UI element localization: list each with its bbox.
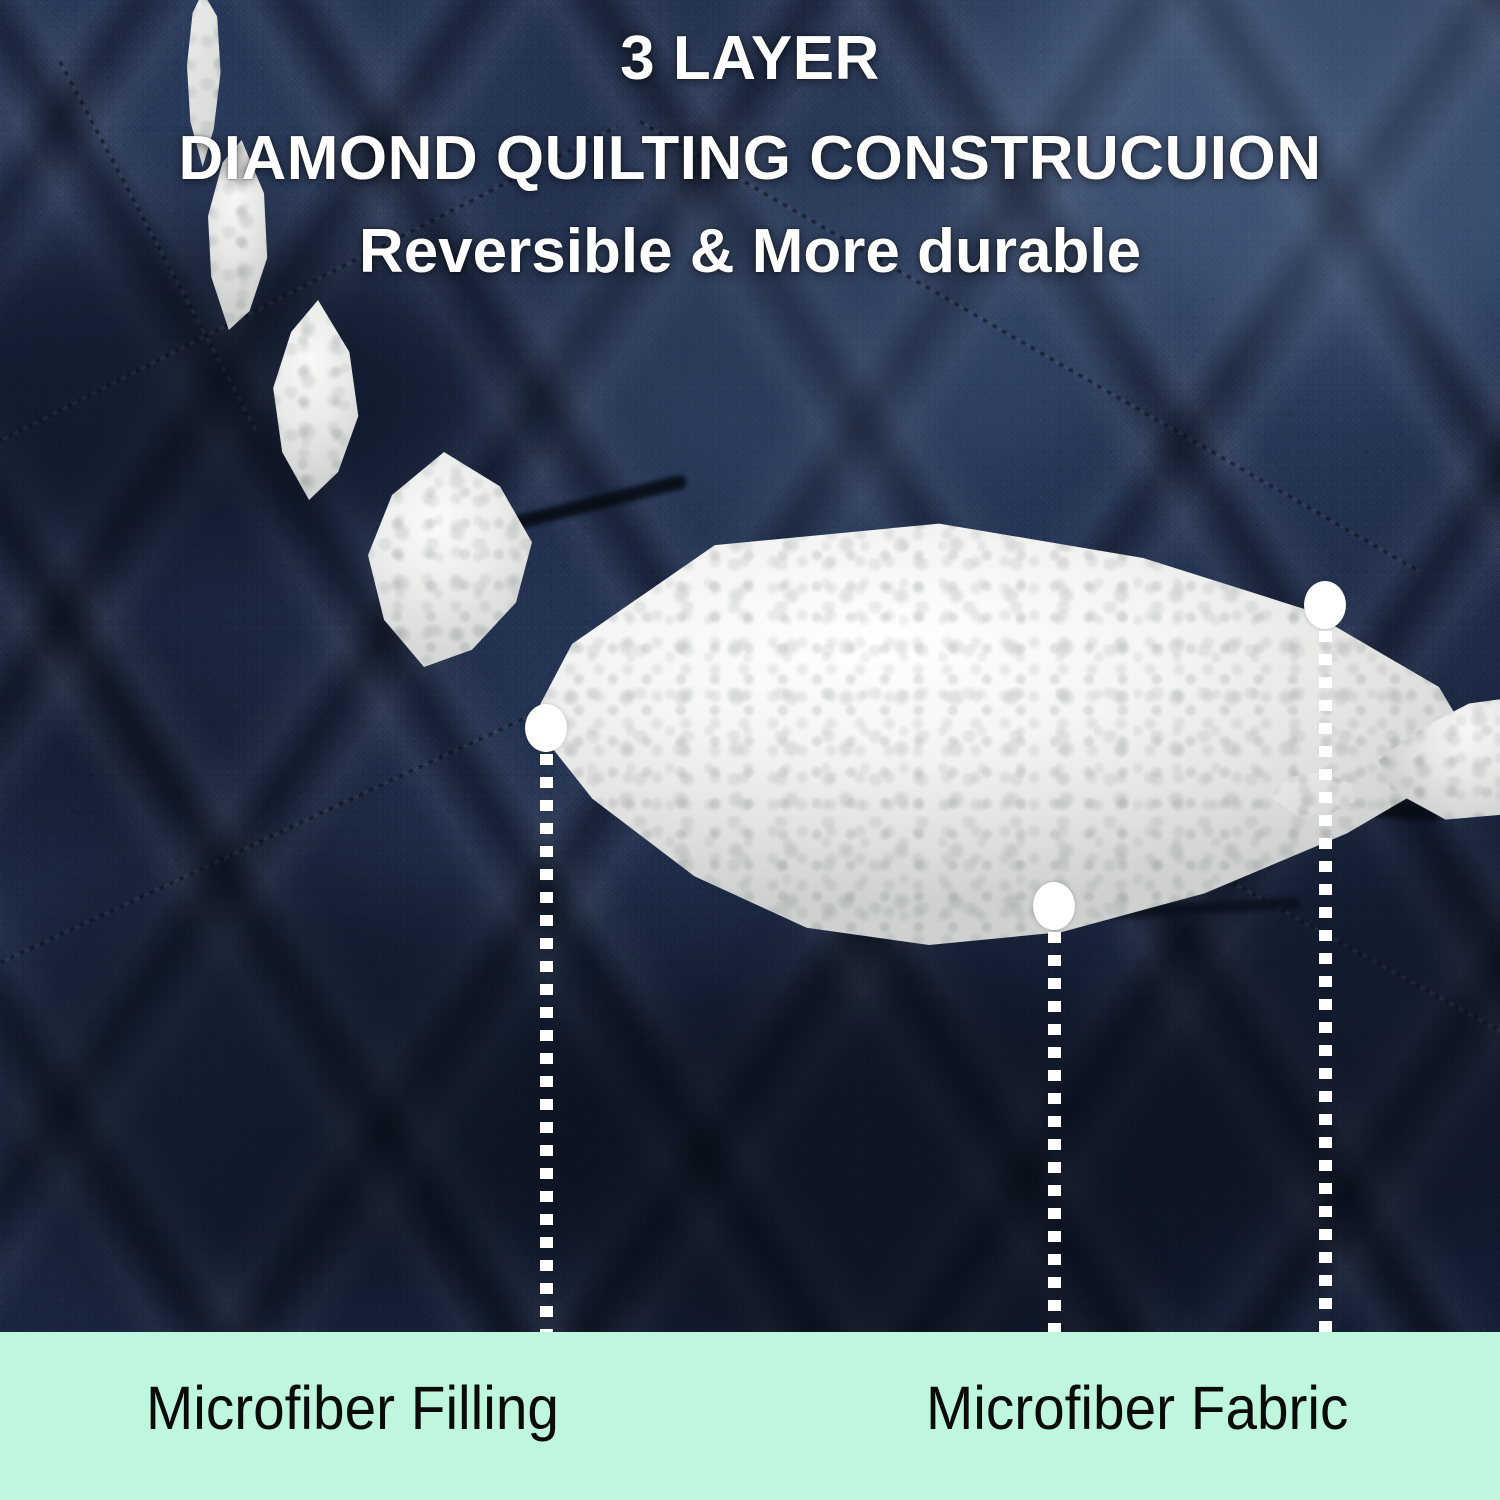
callout-leader-line (1319, 631, 1332, 1332)
legend-label-microfiber-filling: Microfiber Filling (146, 1378, 559, 1439)
callout-marker-dot-icon (525, 704, 567, 752)
callout-marker-dot-icon (1304, 581, 1346, 629)
callout-leader-line (540, 754, 553, 1332)
legend-label-row: Microfiber Filling Microfiber Fabric (0, 1332, 1500, 1500)
quilted-fabric-photo (0, 0, 1500, 1332)
callout-leader-line (1048, 932, 1061, 1332)
legend-label-microfiber-fabric: Microfiber Fabric (926, 1378, 1348, 1439)
legend-band: Microfiber Filling Microfiber Fabric (0, 1332, 1500, 1500)
callout-marker-dot-icon (1033, 882, 1075, 930)
product-infographic-poster: 3 LAYER DIAMOND QUILTING CONSTRUCUION Re… (0, 0, 1500, 1500)
quilt-highlight-center (540, 180, 1100, 520)
